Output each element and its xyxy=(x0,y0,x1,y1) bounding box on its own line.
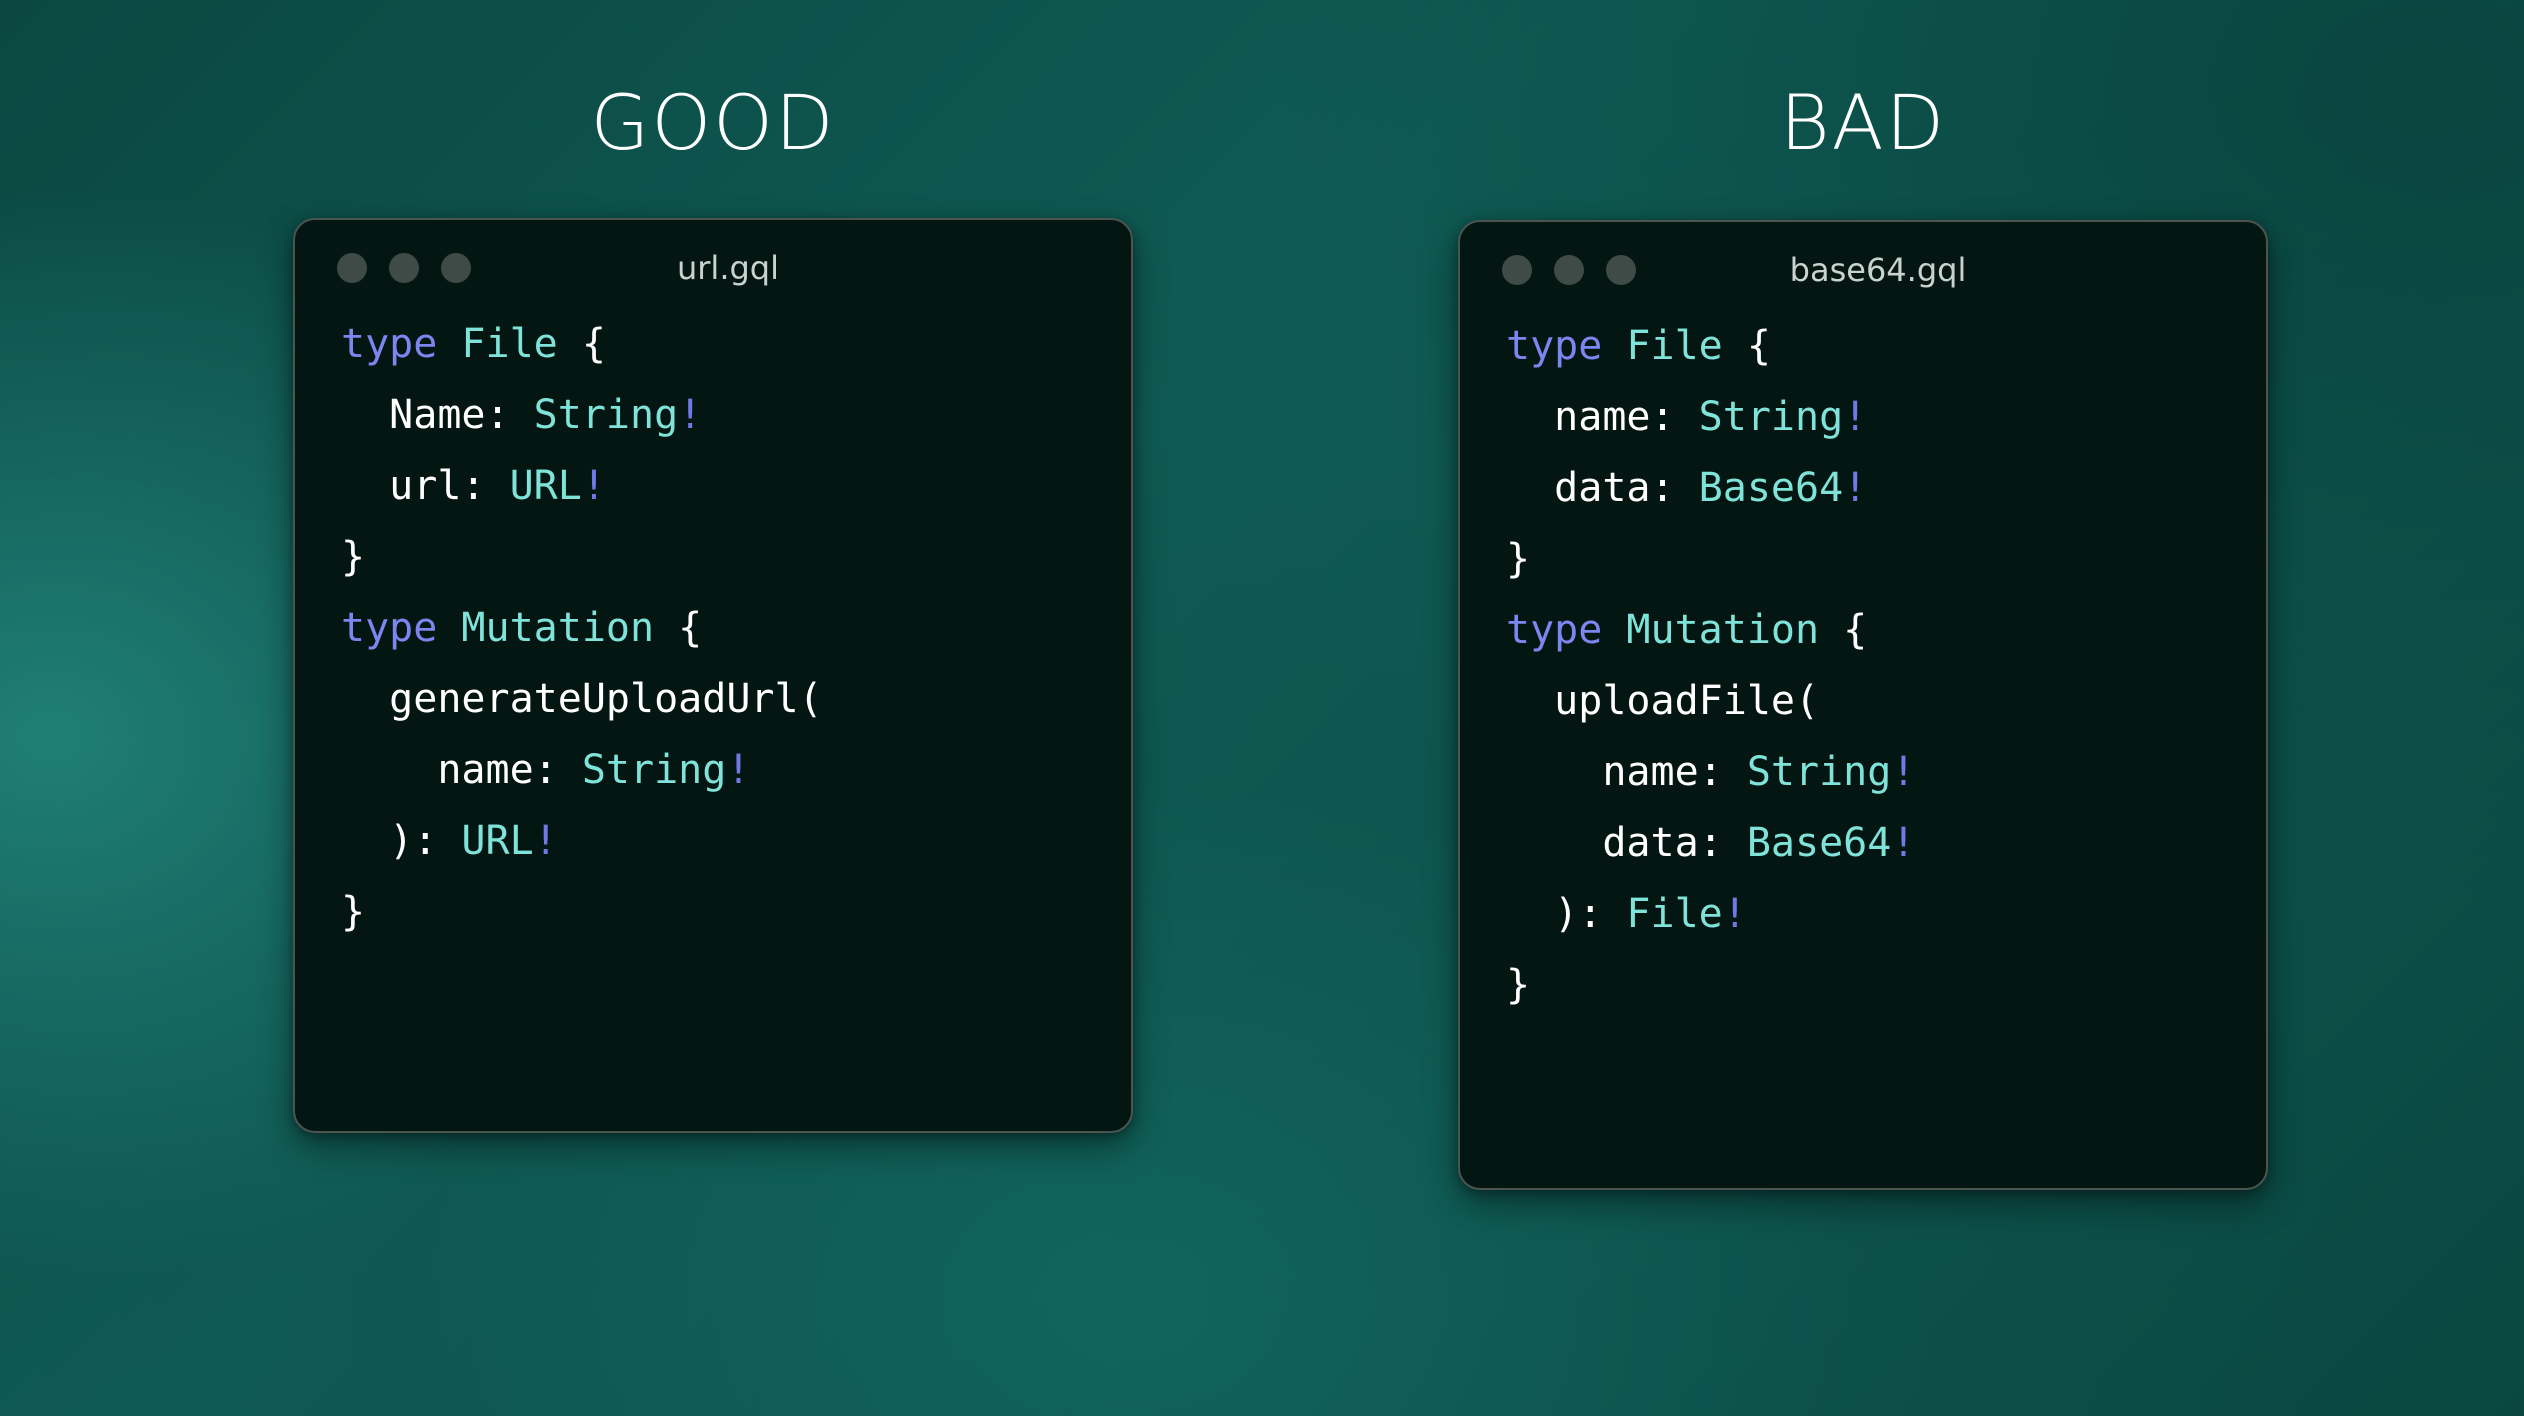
code-line: type File { xyxy=(1460,324,2266,395)
code-token-plain xyxy=(437,605,461,651)
close-dot-icon[interactable] xyxy=(337,253,367,283)
code-token-type: File xyxy=(1626,891,1722,937)
code-token-plain: { xyxy=(1819,607,1867,653)
panel-label-bad: BAD xyxy=(1458,78,2268,167)
code-line: uploadFile( xyxy=(1460,679,2266,750)
code-line: } xyxy=(295,890,1131,961)
code-token-plain: uploadFile( xyxy=(1506,678,1819,724)
code-token-type: Base64 xyxy=(1699,465,1844,511)
code-token-plain: url: xyxy=(341,463,510,509)
window-controls-bad xyxy=(1502,255,1636,285)
code-token-plain: ): xyxy=(1506,891,1626,937)
code-token-type: Mutation xyxy=(461,605,654,651)
code-token-plain: data: xyxy=(1506,465,1699,511)
code-token-bang: ! xyxy=(1723,891,1747,937)
code-token-plain: { xyxy=(558,321,606,367)
code-token-plain: { xyxy=(654,605,702,651)
code-token-bang: ! xyxy=(582,463,606,509)
code-token-type: Mutation xyxy=(1626,607,1819,653)
code-token-kw: type xyxy=(341,321,437,367)
code-line: data: Base64! xyxy=(1460,821,2266,892)
code-token-bang: ! xyxy=(1843,394,1867,440)
code-token-plain: generateUploadUrl( xyxy=(341,676,823,722)
code-token-plain: } xyxy=(341,534,365,580)
code-token-plain: } xyxy=(1506,962,1530,1008)
code-token-type: URL xyxy=(510,463,582,509)
code-card-bad: base64.gql type File { name: String! dat… xyxy=(1458,220,2268,1190)
code-token-plain xyxy=(1602,607,1626,653)
code-line: type File { xyxy=(295,322,1131,393)
code-line: ): URL! xyxy=(295,819,1131,890)
code-line: type Mutation { xyxy=(295,606,1131,677)
code-token-plain xyxy=(1602,323,1626,369)
code-line: data: Base64! xyxy=(1460,466,2266,537)
code-token-bang: ! xyxy=(1891,820,1915,866)
code-token-kw: type xyxy=(1506,323,1602,369)
maximize-dot-icon[interactable] xyxy=(441,253,471,283)
code-token-kw: type xyxy=(1506,607,1602,653)
code-card-good: url.gql type File { Name: String! url: U… xyxy=(293,218,1133,1133)
code-line: name: String! xyxy=(1460,395,2266,466)
code-token-plain: } xyxy=(341,889,365,935)
code-token-plain: } xyxy=(1506,536,1530,582)
code-token-plain: name: xyxy=(341,747,582,793)
code-token-type: String xyxy=(1699,394,1844,440)
minimize-dot-icon[interactable] xyxy=(1554,255,1584,285)
code-token-type: String xyxy=(582,747,727,793)
code-token-plain: Name: xyxy=(341,392,534,438)
close-dot-icon[interactable] xyxy=(1502,255,1532,285)
code-token-bang: ! xyxy=(678,392,702,438)
code-token-type: URL xyxy=(461,818,533,864)
comparison-stage: GOOD url.gql type File { Name: String! u… xyxy=(0,0,2524,1416)
code-line: } xyxy=(1460,537,2266,608)
code-token-bang: ! xyxy=(726,747,750,793)
code-line: name: String! xyxy=(1460,750,2266,821)
code-token-bang: ! xyxy=(534,818,558,864)
card-titlebar-good: url.gql xyxy=(295,220,1131,316)
code-line: name: String! xyxy=(295,748,1131,819)
code-token-type: File xyxy=(461,321,557,367)
code-block-bad: type File { name: String! data: Base64!}… xyxy=(1460,318,2266,1034)
code-line: ): File! xyxy=(1460,892,2266,963)
code-token-bang: ! xyxy=(1891,749,1915,795)
code-token-plain: data: xyxy=(1506,820,1747,866)
code-line: type Mutation { xyxy=(1460,608,2266,679)
code-token-type: String xyxy=(534,392,679,438)
code-token-plain: ): xyxy=(341,818,461,864)
code-line: generateUploadUrl( xyxy=(295,677,1131,748)
maximize-dot-icon[interactable] xyxy=(1606,255,1636,285)
window-controls-good xyxy=(337,253,471,283)
minimize-dot-icon[interactable] xyxy=(389,253,419,283)
code-token-plain xyxy=(437,321,461,367)
code-token-type: File xyxy=(1626,323,1722,369)
code-line: Name: String! xyxy=(295,393,1131,464)
code-block-good: type File { Name: String! url: URL!}type… xyxy=(295,316,1131,961)
code-token-kw: type xyxy=(341,605,437,651)
code-line: url: URL! xyxy=(295,464,1131,535)
code-token-bang: ! xyxy=(1843,465,1867,511)
card-titlebar-bad: base64.gql xyxy=(1460,222,2266,318)
code-token-plain: name: xyxy=(1506,749,1747,795)
code-token-type: Base64 xyxy=(1747,820,1892,866)
panel-label-good: GOOD xyxy=(293,78,1133,167)
code-line: } xyxy=(295,535,1131,606)
code-token-type: String xyxy=(1747,749,1892,795)
code-token-plain: { xyxy=(1723,323,1771,369)
code-line: } xyxy=(1460,963,2266,1034)
code-token-plain: name: xyxy=(1506,394,1699,440)
